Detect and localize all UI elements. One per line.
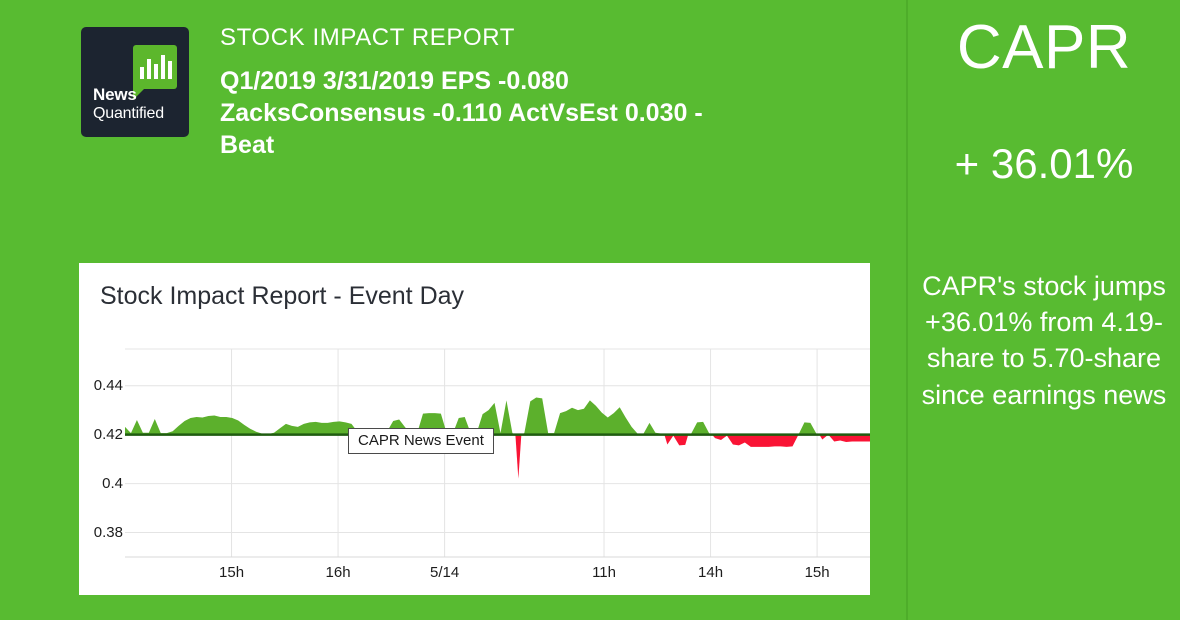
stock-impact-report-card: News Quantified STOCK IMPACT REPORT Q1/2… — [0, 0, 1180, 620]
x-axis-tick-label: 16h — [308, 564, 368, 581]
summary-text: CAPR's stock jumps +36.01% from 4.19-sha… — [918, 268, 1170, 413]
logo-bar-4 — [161, 55, 165, 79]
logo-line-2: Quantified — [93, 105, 164, 123]
logo-bar-2 — [147, 59, 151, 79]
y-axis-tick-label: 0.42 — [79, 426, 123, 443]
left-panel: News Quantified STOCK IMPACT REPORT Q1/2… — [0, 0, 906, 620]
logo-bar-1 — [140, 67, 144, 79]
logo-bar-5 — [168, 61, 172, 79]
report-kicker: STOCK IMPACT REPORT — [220, 24, 515, 52]
report-header: News Quantified STOCK IMPACT REPORT Q1/2… — [0, 0, 906, 200]
logo-bar-3 — [154, 64, 158, 79]
news-event-annotation: CAPR News Event — [348, 428, 494, 454]
x-axis-tick-label: 15h — [202, 564, 262, 581]
area-down-1 — [515, 435, 521, 479]
area-down-3 — [712, 435, 801, 447]
area-up-3 — [688, 422, 712, 435]
speech-bubble-icon — [133, 45, 177, 89]
y-axis-tick-label: 0.38 — [79, 524, 123, 541]
y-axis-tick-label: 0.4 — [79, 475, 123, 492]
area-up-0 — [125, 416, 366, 435]
x-axis-tick-label: 11h — [574, 564, 634, 581]
area-down-2 — [664, 435, 688, 446]
x-axis-tick-label: 14h — [681, 564, 741, 581]
news-quantified-logo: News Quantified — [81, 27, 189, 137]
percent-change: + 36.01% — [908, 140, 1180, 188]
area-up-4 — [796, 422, 820, 434]
x-axis-tick-label: 15h — [787, 564, 847, 581]
y-axis-tick-label: 0.44 — [79, 377, 123, 394]
area-up-2 — [521, 397, 664, 434]
x-axis-tick-label: 5/14 — [415, 564, 475, 581]
right-panel: CAPR + 36.01% CAPR's stock jumps +36.01%… — [908, 0, 1180, 620]
logo-line-1: News — [93, 85, 137, 105]
chart-card: Stock Impact Report - Event Day 0.440.42… — [79, 263, 870, 595]
report-headline: Q1/2019 3/31/2019 EPS -0.080 ZacksConsen… — [220, 65, 760, 161]
ticker-symbol: CAPR — [908, 12, 1180, 83]
